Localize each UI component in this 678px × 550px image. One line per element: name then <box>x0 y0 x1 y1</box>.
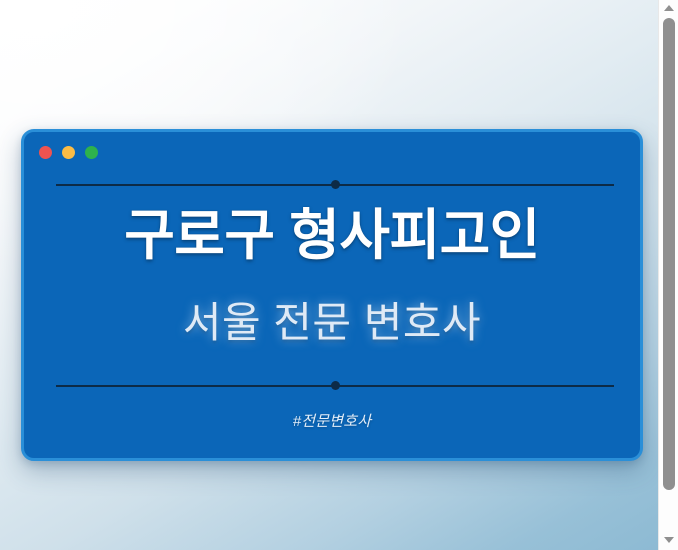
scroll-down-arrow-icon[interactable] <box>659 532 678 548</box>
vertical-scrollbar[interactable] <box>658 0 678 550</box>
card-content: 구로구 형사피고인 서울 전문 변호사 #전문변호사 <box>24 132 640 458</box>
card-hashtag: #전문변호사 <box>24 410 640 431</box>
presentation-card: 구로구 형사피고인 서울 전문 변호사 #전문변호사 <box>21 129 643 461</box>
divider-node-icon <box>331 381 340 390</box>
scroll-up-arrow-icon[interactable] <box>659 0 678 16</box>
card-subtitle: 서울 전문 변호사 <box>24 300 640 346</box>
divider-bottom <box>56 379 614 393</box>
page-root: 구로구 형사피고인 서울 전문 변호사 #전문변호사 <box>0 0 678 550</box>
scrollbar-thumb[interactable] <box>663 18 675 490</box>
card-title: 구로구 형사피고인 <box>24 206 640 265</box>
